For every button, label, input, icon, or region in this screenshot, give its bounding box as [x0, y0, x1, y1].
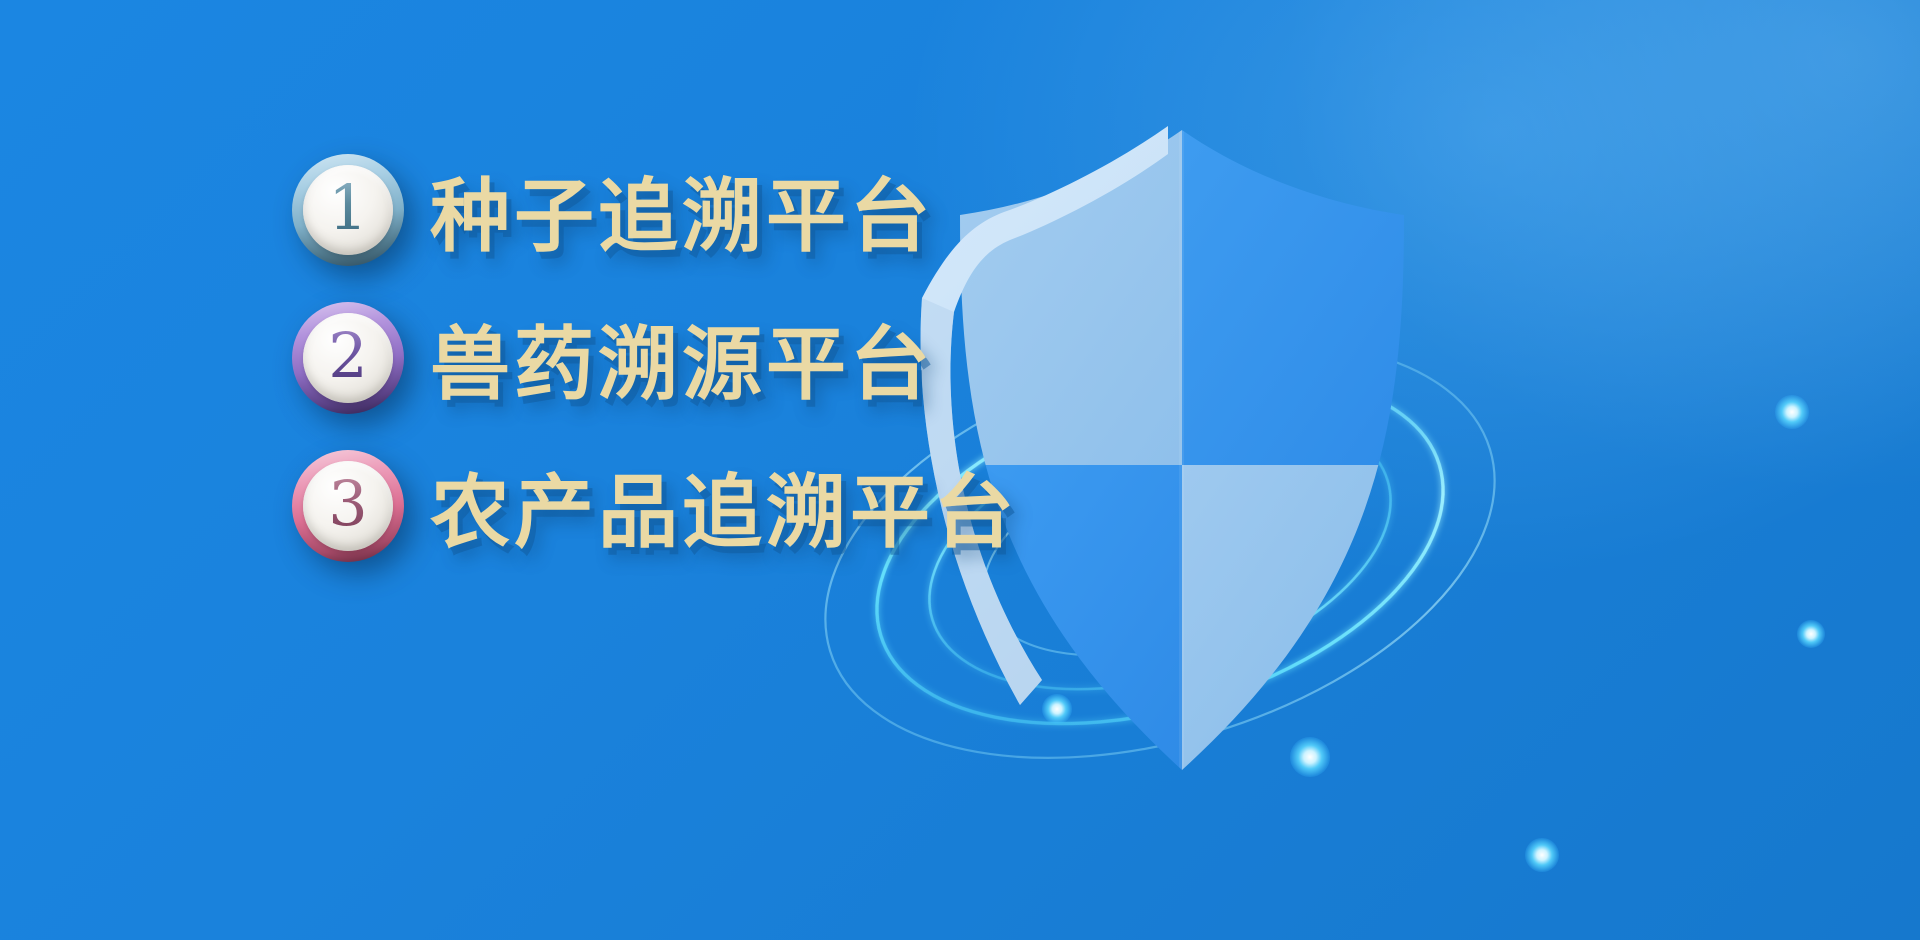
badge-inner: 3	[303, 461, 393, 551]
glow-dot-icon	[1775, 395, 1809, 429]
platform-label-1[interactable]: 种子追溯平台	[430, 152, 934, 268]
badge-number: 3	[328, 473, 367, 539]
glow-dot-icon	[1525, 838, 1559, 872]
numbered-badge-icon: 1	[292, 154, 404, 266]
banner-stage: 1 种子追溯平台 2 兽药溯源平台 3 农产品追溯平台	[0, 0, 1920, 940]
platform-list: 1 种子追溯平台 2 兽药溯源平台 3 农产品追溯平台	[292, 152, 1018, 564]
list-item[interactable]: 2 兽药溯源平台	[292, 300, 1018, 416]
platform-label-3[interactable]: 农产品追溯平台	[430, 448, 1018, 564]
badge-number: 1	[328, 177, 367, 243]
numbered-badge-icon: 3	[292, 450, 404, 562]
glow-dot-icon	[1797, 620, 1825, 648]
badge-inner: 1	[303, 165, 393, 255]
list-item[interactable]: 1 种子追溯平台	[292, 152, 1018, 268]
numbered-badge-icon: 2	[292, 302, 404, 414]
badge-number: 2	[328, 325, 367, 391]
platform-label-2[interactable]: 兽药溯源平台	[430, 300, 934, 416]
badge-inner: 2	[303, 313, 393, 403]
list-item[interactable]: 3 农产品追溯平台	[292, 448, 1018, 564]
